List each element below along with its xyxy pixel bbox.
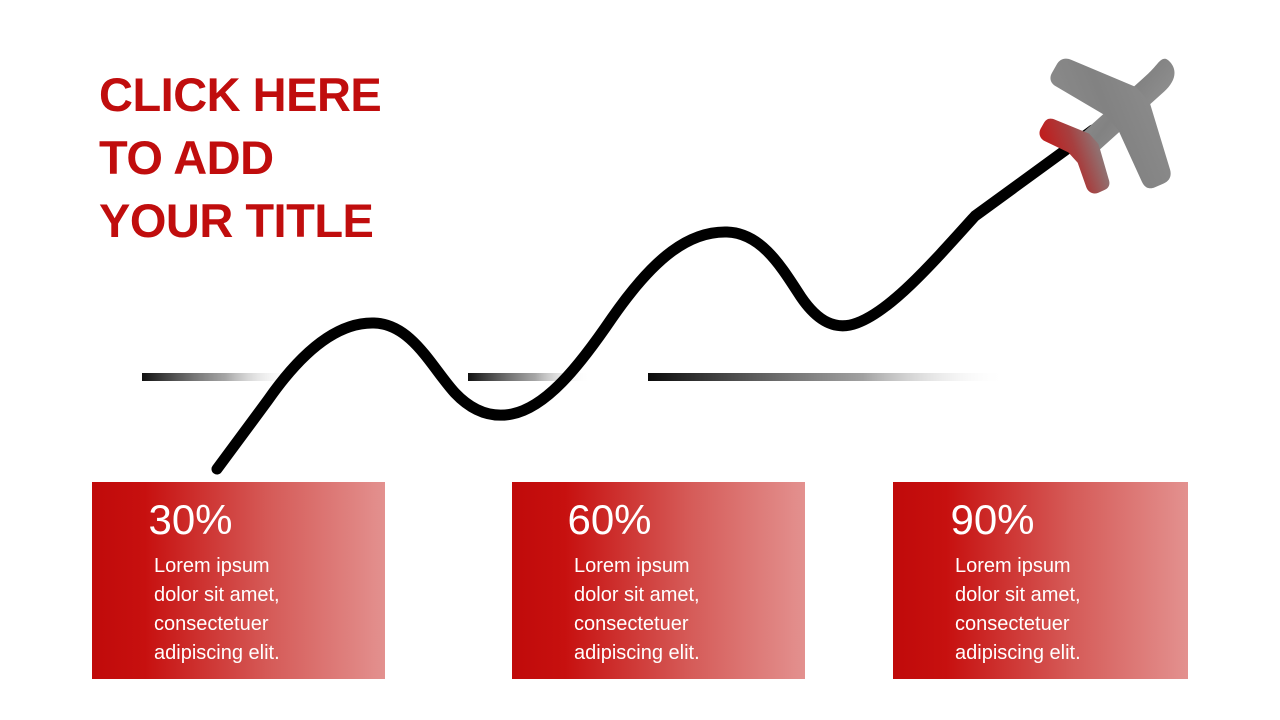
title-line-1: CLICK HERE xyxy=(99,63,479,126)
stat-card-body: Lorem ipsum dolor sit amet, consectetuer… xyxy=(893,552,1188,668)
stat-card-body: Lorem ipsum dolor sit amet, consectetuer… xyxy=(512,552,805,668)
airplane-icon xyxy=(1011,7,1228,225)
stat-card-body: Lorem ipsum dolor sit amet, consectetuer… xyxy=(92,552,385,668)
page-title[interactable]: CLICK HERE TO ADD YOUR TITLE xyxy=(99,63,479,252)
baseline-3 xyxy=(648,373,1006,381)
stat-card-60[interactable]: 60% Lorem ipsum dolor sit amet, consecte… xyxy=(512,482,805,679)
stat-card-percent: 90% xyxy=(893,494,1188,546)
stat-card-90[interactable]: 90% Lorem ipsum dolor sit amet, consecte… xyxy=(893,482,1188,679)
baseline-2 xyxy=(468,373,590,381)
baseline-1 xyxy=(142,373,294,381)
stat-card-30[interactable]: 30% Lorem ipsum dolor sit amet, consecte… xyxy=(92,482,385,679)
stat-card-percent: 60% xyxy=(512,494,805,546)
title-line-3: YOUR TITLE xyxy=(99,189,479,252)
title-line-2: TO ADD xyxy=(99,126,479,189)
slide-canvas: CLICK HERE TO ADD YOUR TITLE xyxy=(0,0,1280,720)
stat-card-percent: 30% xyxy=(92,494,385,546)
